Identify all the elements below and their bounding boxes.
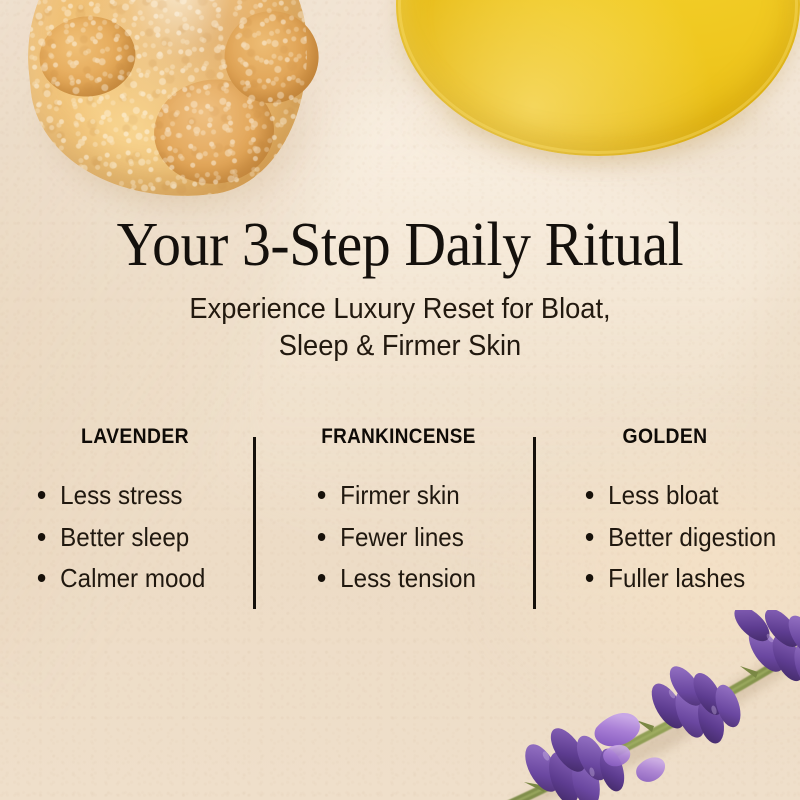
benefit-list-frankincense: Firmer skin Fewer lines Less tension <box>270 479 534 595</box>
list-item: Better sleep <box>36 521 239 554</box>
benefit-columns: LAVENDER Less stress Better sleep Calmer… <box>0 424 800 624</box>
headline-block: Your 3-Step Daily Ritual Experience Luxu… <box>0 214 800 365</box>
column-divider-second <box>533 437 536 609</box>
list-item: Calmer mood <box>36 562 239 595</box>
list-item: Fewer lines <box>316 521 519 554</box>
column-title-frankincense: FRANKINCENSE <box>282 424 514 449</box>
list-item: Less tension <box>316 562 519 595</box>
subtitle-line-2: Sleep & Firmer Skin <box>279 330 521 362</box>
benefit-list-golden: Less bloat Better digestion Fuller lashe… <box>548 479 800 595</box>
benefit-column-golden: GOLDEN Less bloat Better digestion Fulle… <box>534 424 800 624</box>
page-subtitle: Experience Luxury Reset for Bloat, Sleep… <box>118 291 682 365</box>
poster-canvas: Your 3-Step Daily Ritual Experience Luxu… <box>0 0 800 800</box>
list-item: Less bloat <box>584 479 785 512</box>
column-title-lavender: LAVENDER <box>28 424 242 449</box>
benefit-column-frankincense: FRANKINCENSE Firmer skin Fewer lines Les… <box>254 424 534 624</box>
benefit-list-lavender: Less stress Better sleep Calmer mood <box>16 479 254 595</box>
column-title-golden: GOLDEN <box>552 424 779 449</box>
list-item: Less stress <box>36 479 239 512</box>
column-divider-first <box>253 437 256 609</box>
list-item: Better digestion <box>584 521 785 554</box>
page-title: Your 3-Step Daily Ritual <box>28 214 772 277</box>
benefit-column-lavender: LAVENDER Less stress Better sleep Calmer… <box>0 424 254 624</box>
list-item: Fuller lashes <box>584 562 785 595</box>
list-item: Firmer skin <box>316 479 519 512</box>
subtitle-line-1: Experience Luxury Reset for Bloat, <box>189 293 610 325</box>
